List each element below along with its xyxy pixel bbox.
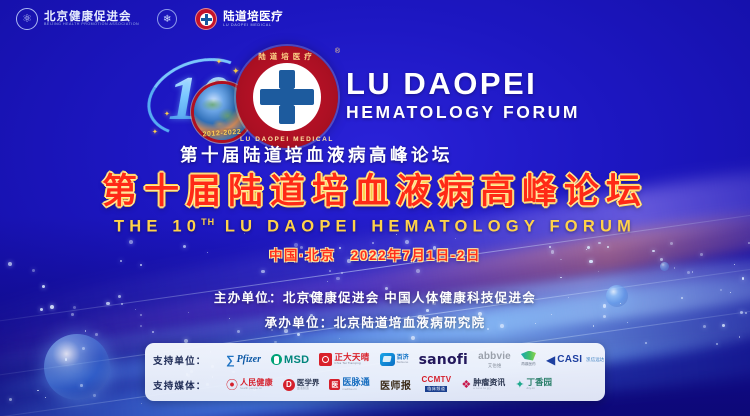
media-logo-yishibao[interactable]: 医师报 (380, 376, 412, 394)
ribbon-mark-icon: ❖ (461, 378, 471, 391)
seal-text-cn: 陆道培医疗 (236, 51, 338, 62)
title-en-prefix: THE 10 (114, 217, 201, 235)
star-icon: ✦ (152, 128, 158, 136)
media-logo-zhongliuzixun[interactable]: ❖ 肿瘤资讯 oncology (461, 376, 505, 394)
yixuejie-mark-icon: D (283, 379, 295, 391)
dxy-mark-icon: ✦ (515, 378, 524, 391)
snowflake-emblem-icon: ❄ (157, 9, 177, 29)
sponsor-logo-list: ∑ Pfizer MSD 正大天晴 Chia Tai Tianqing (226, 351, 604, 369)
brand-line-2: HEMATOLOGY FORUM (346, 101, 580, 124)
seal-white-disc (253, 63, 321, 131)
sponsor-logo-subtext: 艾伯维 (488, 364, 502, 369)
star-icon: ✦ (216, 58, 222, 66)
sponsor-logo-text: abbvie (478, 351, 511, 362)
date-location-line: 中国·北京 2022年7月1日-2日 (0, 244, 750, 264)
beigene-mark-icon (380, 353, 395, 366)
media-logo-yixuejie[interactable]: D 医学界 血液频道 (283, 376, 320, 394)
sponsor-logo-text: CASI (557, 354, 582, 365)
medical-cross-icon (260, 70, 314, 124)
media-row: 支持媒体： ⦿ 人民健康 health.people.cn D 医学界 血液频道 (153, 373, 597, 397)
sponsor-logo-subtext: 凯信远达 (586, 357, 604, 363)
brand-line-1: LU DAOPEI (346, 68, 580, 101)
star-icon: ✦ (232, 66, 240, 77)
sponsor-logo-sanofi[interactable]: sanofi (419, 351, 468, 369)
media-logo-list: ⦿ 人民健康 health.people.cn D 医学界 血液频道 医 (226, 376, 597, 394)
sponsor-logo-abbvie[interactable]: abbvie 艾伯维 (478, 351, 511, 369)
sponsor-panel: 支持单位： ∑ Pfizer MSD 正大天晴 Chia Tai Tianqin… (145, 343, 605, 401)
pfizer-mark-icon: ∑ (226, 353, 235, 367)
star-icon: ✦ (164, 110, 170, 118)
sponsor-logo-text: MSD (284, 354, 309, 366)
glowing-sphere-large (44, 334, 110, 400)
main-title-cn: 第十届陆道培血液病高峰论坛 (0, 172, 750, 213)
yimaitong-mark-icon: 医 (329, 379, 340, 390)
media-row-label: 支持媒体： (153, 378, 219, 392)
sponsor-row-label: 支持单位： (153, 353, 219, 367)
partner-logo-ludaopei: 陆道培医疗 LU DAOPEI MEDICAL (195, 8, 283, 30)
msd-mark-icon (271, 354, 282, 365)
media-logo-subtext: 临床频道 (425, 386, 447, 392)
organizer-block: 主办单位：北京健康促进会 中国人体健康科技促进会 承办单位：北京陆道培血液病研究… (0, 286, 750, 336)
red-cross-badge-icon (195, 8, 217, 30)
media-logo-subtext: health.people.cn (240, 387, 273, 390)
title-en-ordinal: TH (201, 217, 215, 227)
partner-name-en: LU DAOPEI MEDICAL (223, 23, 283, 27)
casi-mark-icon: ◀ (546, 353, 555, 367)
forum-emblem: 10 2012-2022 TH ✦ ✦ ✦ ✦ ✦ 陆道培医疗 LU DAOPE… (0, 46, 750, 164)
sponsor-logo-pfizer[interactable]: ∑ Pfizer (226, 351, 261, 369)
brand-wordmark: LU DAOPEI HEMATOLOGY FORUM (346, 68, 580, 123)
sponsor-logo-text: Pfizer (237, 354, 261, 365)
conference-poster: ⚛ 北京健康促进会 BEIJING HEALTH PROMOTION ASSOC… (0, 0, 750, 416)
sponsor-logo-beigene[interactable]: 百济 BeiGene (380, 351, 409, 369)
media-logo-yimaitong[interactable]: 医 医脉通 medlive.cn (329, 376, 370, 394)
emblem-subtitle-cn: 第十届陆道培血液病高峰论坛 (180, 142, 453, 167)
partner-logo-bhpa: ⚛ 北京健康促进会 BEIJING HEALTH PROMOTION ASSOC… (16, 8, 139, 30)
partner-name-en: BEIJING HEALTH PROMOTION ASSOCIATION (44, 23, 139, 27)
ludaopei-seal-logo: 陆道培医疗 LU DAOPEI MEDICAL ® (236, 46, 338, 148)
media-logo-renminjiankang[interactable]: ⦿ 人民健康 health.people.cn (226, 376, 273, 394)
sponsor-logo-chiatai[interactable]: 正大天晴 Chia Tai Tianqing (319, 351, 369, 369)
media-logo-text: CCMTV (421, 376, 451, 384)
main-title-en: THE 10TH LU DAOPEI HEMATOLOGY FORUM (0, 217, 750, 237)
circular-seal-icon: ⚛ (16, 8, 38, 30)
media-logo-text: 医师报 (380, 377, 412, 392)
sponsor-logo-subtext: BeiGene (397, 361, 409, 364)
media-logo-subtext: medlive.cn (342, 388, 370, 391)
title-en-suffix: LU DAOPEI HEMATOLOGY FORUM (215, 217, 636, 235)
organizer-line-host: 主办单位：北京健康促进会 中国人体健康科技促进会 (0, 286, 750, 311)
sponsor-logo-casi[interactable]: ◀ CASI 凯信远达 (546, 351, 604, 369)
sponsor-logo-msd[interactable]: MSD (271, 351, 309, 369)
top-partner-logos: ⚛ 北京健康促进会 BEIJING HEALTH PROMOTION ASSOC… (16, 8, 283, 30)
chiatai-mark-icon (319, 353, 332, 366)
sponsor-logo-text: sanofi (419, 352, 468, 368)
organizer-line-undertaker: 承办单位：北京陆道培血液病研究院 (0, 311, 750, 336)
sponsor-logo-subtext: Chia Tai Tianqing (334, 362, 369, 365)
registered-mark: ® (335, 48, 340, 55)
location-text: 中国·北京 (269, 248, 336, 263)
date-text: 2022年7月1日-2日 (351, 248, 481, 263)
zailab-mark-icon (521, 351, 536, 361)
media-logo-subtext: dxy.cn (526, 387, 552, 390)
media-logo-dxy[interactable]: ✦ 丁香园 dxy.cn (515, 376, 552, 394)
media-logo-subtext: 血液频道 (297, 387, 320, 390)
sponsor-logo-zailab[interactable]: 再鼎医药 (521, 351, 536, 369)
sponsor-row: 支持单位： ∑ Pfizer MSD 正大天晴 Chia Tai Tianqin… (153, 348, 597, 372)
renmin-mark-icon: ⦿ (226, 376, 238, 393)
media-logo-ccmtv[interactable]: CCMTV 临床频道 (421, 376, 451, 394)
sponsor-logo-subtext: 再鼎医药 (521, 363, 535, 367)
media-logo-subtext: oncology (473, 387, 505, 390)
main-title-block: 第十届陆道培血液病高峰论坛 THE 10TH LU DAOPEI HEMATOL… (0, 172, 750, 236)
partner-name-cn: 陆道培医疗 (223, 11, 283, 23)
